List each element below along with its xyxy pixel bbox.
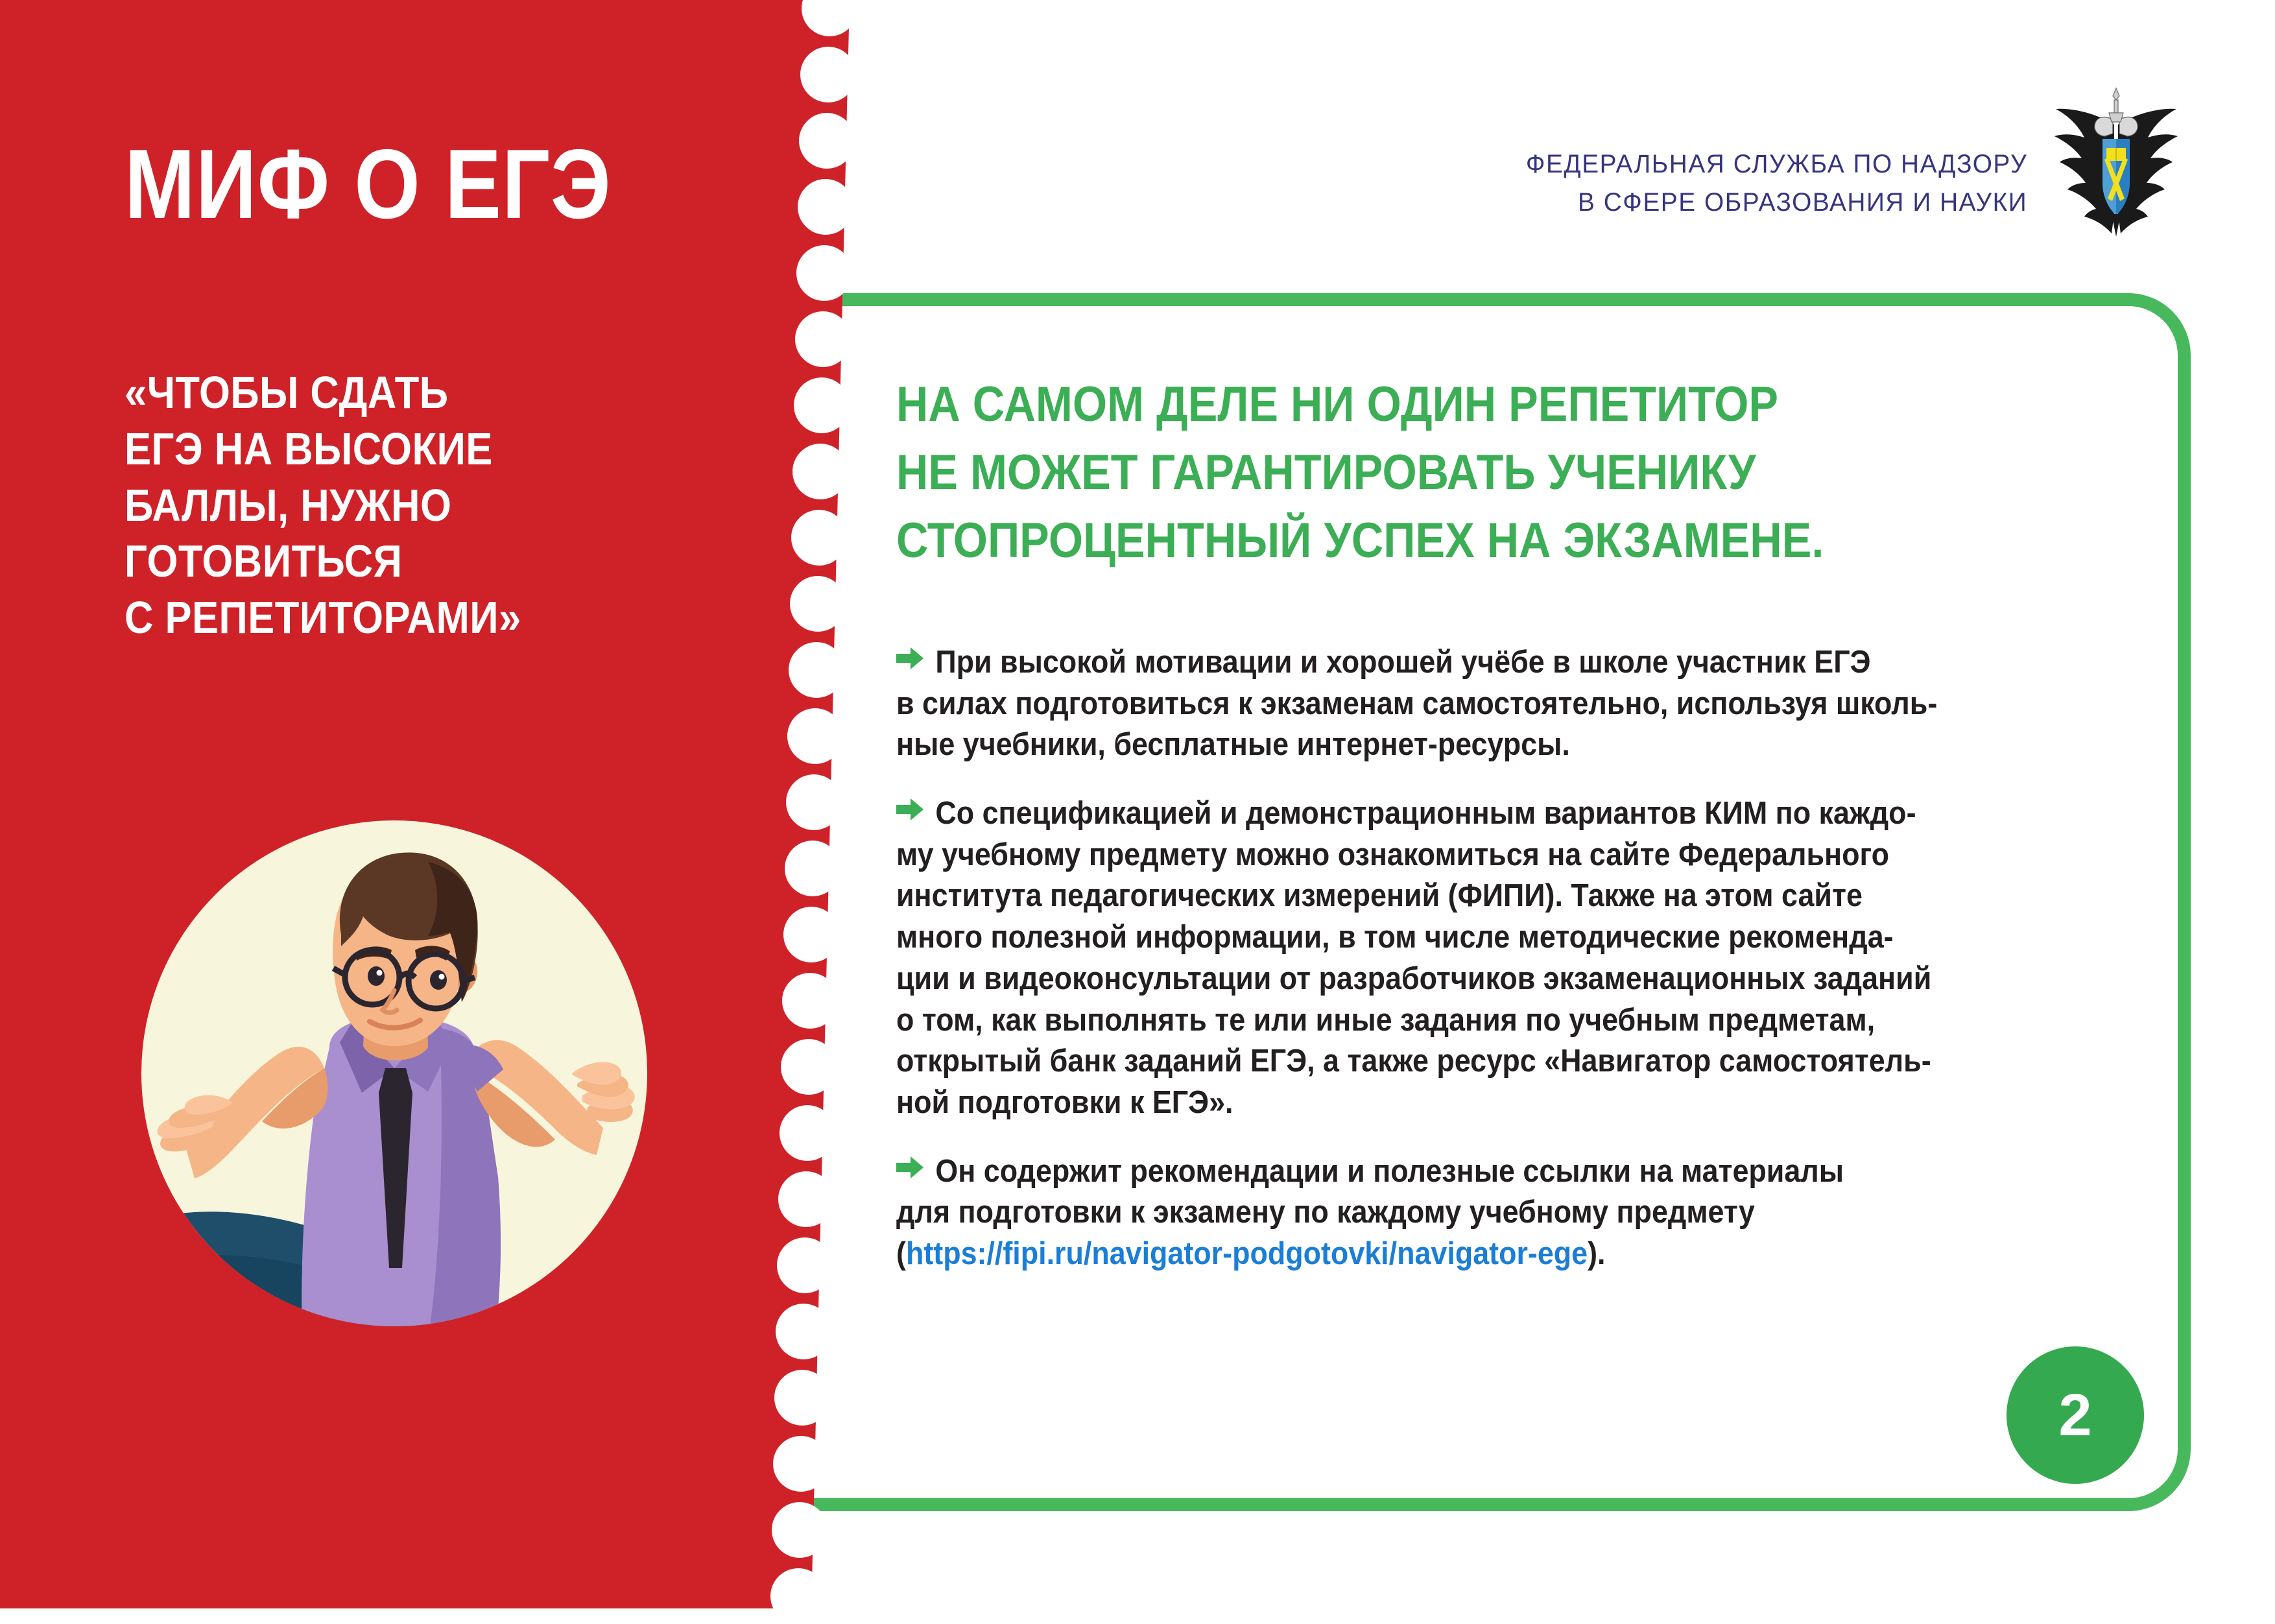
- green-arrow-icon: [896, 647, 923, 670]
- perforation-notch: [794, 377, 850, 433]
- perforation-notch: [800, 47, 856, 102]
- page-number: 2: [2058, 1385, 2091, 1445]
- url-open-paren: (: [896, 1236, 906, 1271]
- perforation-notch: [774, 1370, 830, 1426]
- myth-quote-line: БАЛЛЫ, НУЖНО: [125, 480, 451, 531]
- perforation-notch: [780, 1105, 835, 1161]
- perforation-notch: [781, 1039, 837, 1095]
- perforation-notch: [791, 510, 847, 566]
- perforation-notch: [786, 774, 842, 830]
- body-paragraph: Он содержит рекомендации и полезные ссыл…: [896, 1151, 1980, 1275]
- org-header-line-1: ФЕДЕРАЛЬНАЯ СЛУЖБА ПО НАДЗОРУ: [1526, 145, 2027, 184]
- answer-heading-line: НЕ МОЖЕТ ГАРАНТИРОВАТЬ УЧЕНИКУ: [896, 439, 1888, 507]
- left-red-panel: [0, 0, 850, 1608]
- paragraph-line-text: Со спецификацией и демонстрационным вари…: [935, 796, 1916, 831]
- shrugging-man-illustration: [135, 814, 654, 1333]
- paragraph-line: открытый банк заданий ЕГЭ, а также ресур…: [896, 1041, 1980, 1082]
- paragraph-line: много полезной информации, в том числе м…: [896, 917, 1980, 959]
- page-title: МИФ О ЕГЭ: [125, 135, 688, 233]
- perforation-notch: [785, 841, 840, 896]
- org-header: ФЕДЕРАЛЬНАЯ СЛУЖБА ПО НАДЗОРУ В СФЕРЕ ОБ…: [1510, 145, 2027, 222]
- body-paragraph: При высокой мотивации и хорошей учёбе в …: [896, 642, 1980, 766]
- perforation-notch: [795, 311, 851, 367]
- paragraph-line: института педагогических измерений (ФИПИ…: [896, 876, 1980, 917]
- perforation-notch: [778, 1171, 834, 1227]
- paragraph-line: для подготовки к экзамену по каждому уче…: [896, 1192, 1980, 1234]
- answer-heading-line: НА САМОМ ДЕЛЕ НИ ОДИН РЕПЕТИТОР: [896, 371, 1888, 439]
- perforation-notch: [792, 444, 848, 499]
- rosobrnadzor-eagle-emblem-icon: [2042, 84, 2191, 237]
- myth-quote-line: ГОТОВИТЬСЯ: [125, 536, 402, 586]
- fipi-navigator-link[interactable]: https://fipi.ru/navigator-podgotovki/nav…: [906, 1236, 1588, 1271]
- myth-quote-line: «ЧТОБЫ СДАТЬ: [125, 367, 448, 418]
- perforation-notch: [776, 1304, 831, 1359]
- perforation-notch: [783, 907, 839, 962]
- perforation-notch: [789, 642, 844, 698]
- perforation-notch: [790, 576, 846, 632]
- paragraph-first-line: При высокой мотивации и хорошей учёбе в …: [896, 642, 1980, 684]
- org-header-line-2: В СФЕРЕ ОБРАЗОВАНИЯ И НАУКИ: [1526, 184, 2027, 222]
- perforation-notch: [799, 113, 855, 169]
- perforation-notch: [782, 973, 838, 1029]
- paragraph-line: ции и видеоконсультации от разработчиков…: [896, 959, 1980, 1000]
- answer-heading: НА САМОМ ДЕЛЕ НИ ОДИН РЕПЕТИТОР НЕ МОЖЕТ…: [896, 371, 1888, 575]
- paragraph-line: в силах подготовиться к экзаменам самост…: [896, 684, 1980, 725]
- paragraph-line: ной подготовки к ЕГЭ».: [896, 1082, 1980, 1124]
- url-close-paren: ).: [1588, 1236, 1605, 1271]
- green-arrow-icon: [896, 1156, 923, 1179]
- paragraph-line: му учебному предмету можно ознакомиться …: [896, 835, 1980, 876]
- myth-quote-line: С РЕПЕТИТОРАМИ»: [125, 592, 521, 643]
- paragraph-line-text: При высокой мотивации и хорошей учёбе в …: [935, 645, 1870, 680]
- paragraph-line: ные учебники, бесплатные интернет-ресурс…: [896, 724, 1980, 766]
- perforation-notch: [798, 179, 853, 235]
- perforation-notch: [787, 708, 843, 764]
- paragraph-first-line: Со спецификацией и демонстрационным вари…: [896, 793, 1980, 835]
- perforation-notch: [772, 1502, 828, 1558]
- perforation-notch: [773, 1436, 829, 1492]
- paragraph-url-line: (https://fipi.ru/navigator-podgotovki/na…: [896, 1234, 1980, 1275]
- answer-heading-line: СТОПРОЦЕНТНЫЙ УСПЕХ НА ЭКЗАМЕНЕ.: [896, 507, 1888, 575]
- perforation-notch: [796, 245, 852, 301]
- body-copy: При высокой мотивации и хорошей учёбе в …: [896, 642, 1981, 1302]
- paragraph-line: о том, как выполнять те или иные задания…: [896, 1000, 1980, 1042]
- perforation-notch: [777, 1237, 833, 1293]
- myth-quote: «ЧТОБЫ СДАТЬ ЕГЭ НА ВЫСОКИЕ БАЛЛЫ, НУЖНО…: [125, 364, 695, 646]
- perforation-notch: [770, 1568, 826, 1624]
- title-block: МИФ О ЕГЭ: [125, 135, 780, 233]
- green-arrow-icon: [896, 798, 923, 821]
- myth-quote-line: ЕГЭ НА ВЫСОКИЕ: [125, 424, 493, 474]
- page-number-badge: 2: [2007, 1346, 2144, 1484]
- paragraph-first-line: Он содержит рекомендации и полезные ссыл…: [896, 1151, 1980, 1193]
- paragraph-line-text: Он содержит рекомендации и полезные ссыл…: [935, 1154, 1844, 1189]
- body-paragraph: Со спецификацией и демонстрационным вари…: [896, 793, 1980, 1124]
